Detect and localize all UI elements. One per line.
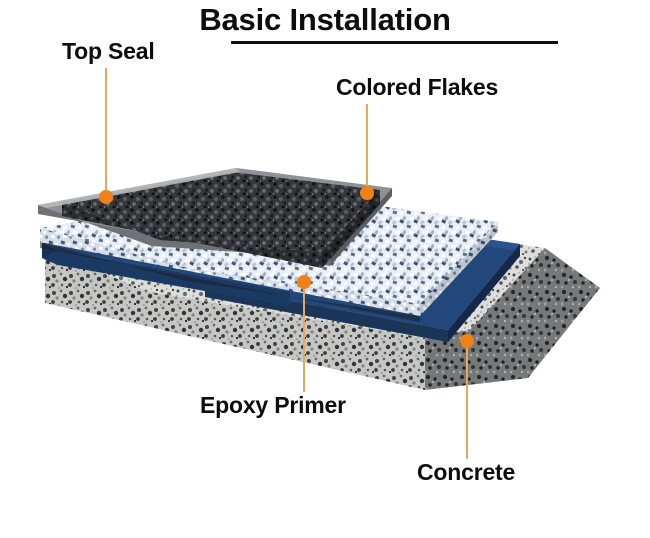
callout-dot-concrete[interactable] [460, 334, 474, 348]
callout-dot-top-seal[interactable] [99, 190, 113, 204]
diagram-canvas: Basic Installation [0, 0, 650, 538]
leader-line-concrete [466, 341, 468, 459]
leader-line-top-seal [105, 68, 107, 195]
label-colored-flakes: Colored Flakes [336, 74, 498, 101]
label-top-seal: Top Seal [62, 38, 155, 65]
leader-line-epoxy-primer [303, 282, 305, 392]
callout-dot-epoxy-primer[interactable] [297, 275, 311, 289]
label-epoxy-primer: Epoxy Primer [200, 392, 346, 419]
leader-line-colored-flakes [366, 104, 368, 191]
layer-stack-illustration [0, 0, 650, 538]
callout-dot-colored-flakes[interactable] [360, 186, 374, 200]
label-concrete: Concrete [417, 459, 515, 486]
